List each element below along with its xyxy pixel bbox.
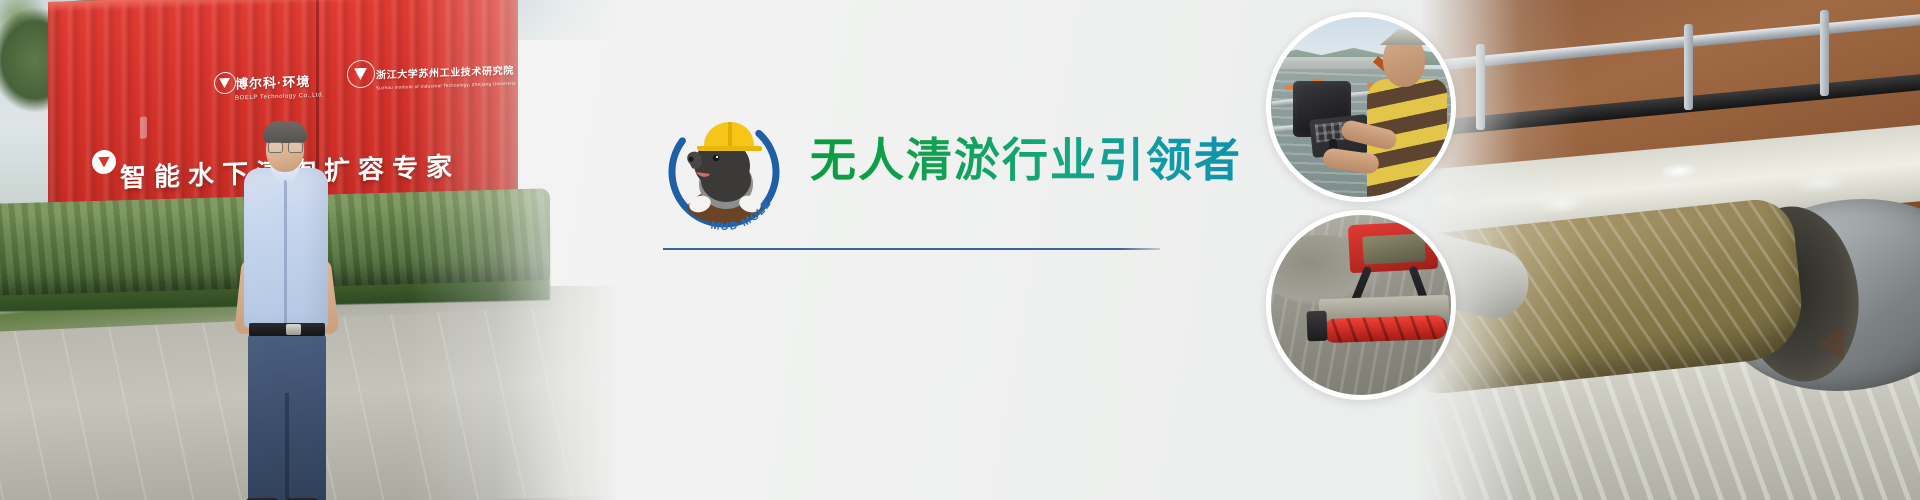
container-brand-primary: 博尔科·环境 BOELP Technology Co.,Ltd.: [235, 70, 325, 101]
container-brand-secondary: 浙江大学苏州工业技术研究院 Suzhou Institute of Indust…: [376, 61, 516, 91]
robot-auger-gearbox: [1306, 311, 1327, 342]
person-hair: [263, 121, 307, 143]
circle-photo-operator: [1266, 12, 1456, 202]
rail-post: [1476, 44, 1485, 130]
mud-mole-logo-svg: MUD MOLE: [660, 108, 788, 236]
robot-equipment-bay: [1362, 233, 1425, 264]
headline-divider: [663, 248, 1160, 250]
circle-photo-dredging-robot: [1266, 210, 1456, 400]
container-lock: [140, 116, 147, 138]
person-belt-buckle: [286, 324, 301, 335]
mud-mole-logo: MUD MOLE: [660, 108, 788, 236]
brand-primary-cn: 博尔科·环境: [235, 74, 310, 92]
center-content: MUD MOLE 无人清淤行业引领者: [660, 0, 1260, 500]
rail-post: [1820, 10, 1829, 96]
person-glasses-icon: [268, 142, 303, 151]
hero-banner: 博尔科·环境 BOELP Technology Co.,Ltd. 浙江大学苏州工…: [0, 0, 1920, 500]
person-trousers: [248, 333, 326, 500]
right-photo-sludge-pipe: [1420, 0, 1920, 500]
robot-auger-screw: [1323, 315, 1448, 343]
rail-post: [1684, 24, 1693, 110]
left-photo-red-container: 博尔科·环境 BOELP Technology Co.,Ltd. 浙江大学苏州工…: [0, 0, 620, 500]
brand-secondary-cn: 浙江大学苏州工业技术研究院: [376, 66, 514, 82]
arrow-icon: [1818, 326, 1844, 360]
person-shirt-placket: [284, 180, 287, 328]
banner-headline: 无人清淤行业引领者: [810, 124, 1242, 190]
executive-person: [224, 120, 344, 500]
